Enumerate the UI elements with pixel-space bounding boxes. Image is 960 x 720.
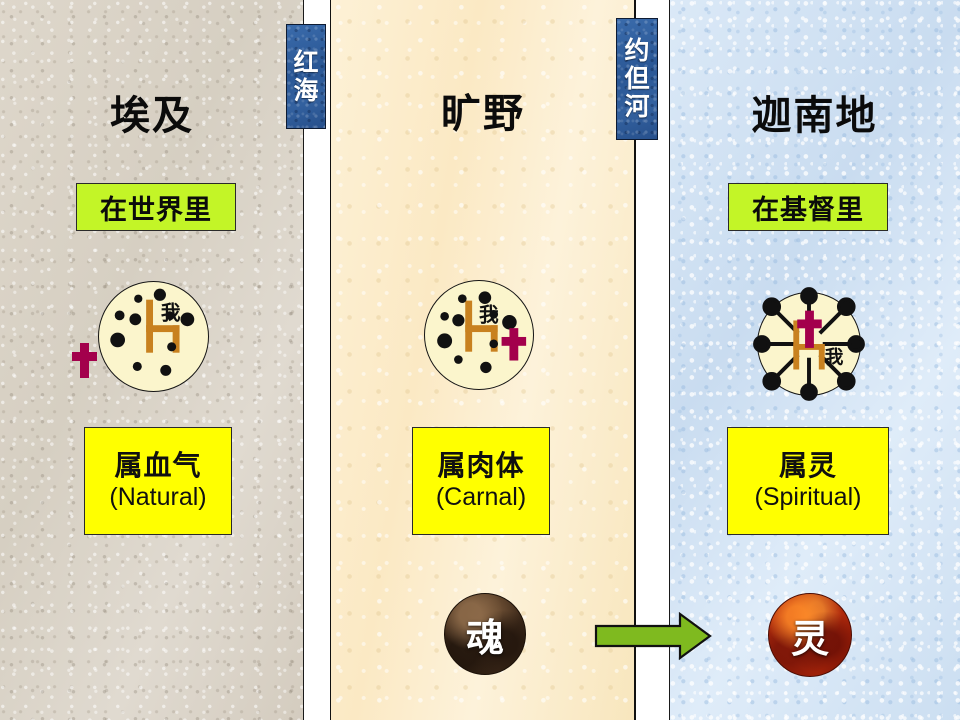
self-label-canaan: 我 — [825, 347, 844, 368]
self-dots-wilderness — [437, 291, 517, 373]
orb-soul: 魂 — [444, 593, 526, 675]
cross-icon-egypt-outside — [70, 341, 100, 381]
heart-diagram-egypt: 我 — [98, 281, 209, 392]
banner-jordan-river-char-0: 约 — [624, 37, 649, 65]
soul-to-spirit-arrow — [594, 612, 712, 660]
self-label-egypt: 我 — [161, 302, 181, 324]
label-box-natural: 属血气 (Natural) — [84, 427, 232, 535]
label-carnal-cn: 属肉体 — [437, 450, 524, 482]
slide-canvas: 埃及 旷野 迦南地 红 海 约 但 河 在世界里 在基督里 — [0, 0, 960, 720]
heart-diagram-wilderness-graphic: 我 — [425, 281, 533, 389]
banner-red-sea: 红 海 — [286, 24, 326, 129]
orb-spirit: 灵 — [768, 593, 852, 677]
page-title-canaan: 迦南地 — [669, 96, 960, 136]
cross-icon-wilderness-inside — [502, 328, 527, 360]
banner-jordan-river-char-2: 河 — [624, 93, 649, 121]
label-spiritual-cn: 属灵 — [779, 450, 837, 482]
cross-icon-canaan-on-throne — [797, 311, 822, 348]
label-natural-en: (Natural) — [109, 483, 206, 512]
label-spiritual-en: (Spiritual) — [755, 483, 862, 512]
label-carnal-en: (Carnal) — [436, 483, 526, 512]
self-label-wilderness: 我 — [479, 304, 499, 326]
label-box-spiritual: 属灵 (Spiritual) — [727, 427, 889, 535]
status-badge-in-christ: 在基督里 — [728, 183, 888, 231]
page-title-egypt: 埃及 — [0, 96, 304, 136]
banner-red-sea-char-1: 海 — [293, 77, 318, 105]
label-natural-cn: 属血气 — [114, 450, 201, 482]
banner-red-sea-char-0: 红 — [293, 49, 318, 77]
status-badge-in-the-world: 在世界里 — [76, 183, 236, 231]
heart-diagram-canaan-graphic: 我 — [758, 293, 860, 395]
banner-jordan-river: 约 但 河 — [616, 18, 658, 140]
banner-jordan-river-char-1: 但 — [624, 65, 649, 93]
heart-diagram-canaan: 我 — [757, 292, 861, 396]
heart-diagram-wilderness: 我 — [424, 280, 534, 390]
label-box-carnal: 属肉体 (Carnal) — [412, 427, 550, 535]
page-title-wilderness: 旷野 — [331, 94, 635, 134]
heart-diagram-egypt-graphic: 我 — [99, 282, 208, 391]
